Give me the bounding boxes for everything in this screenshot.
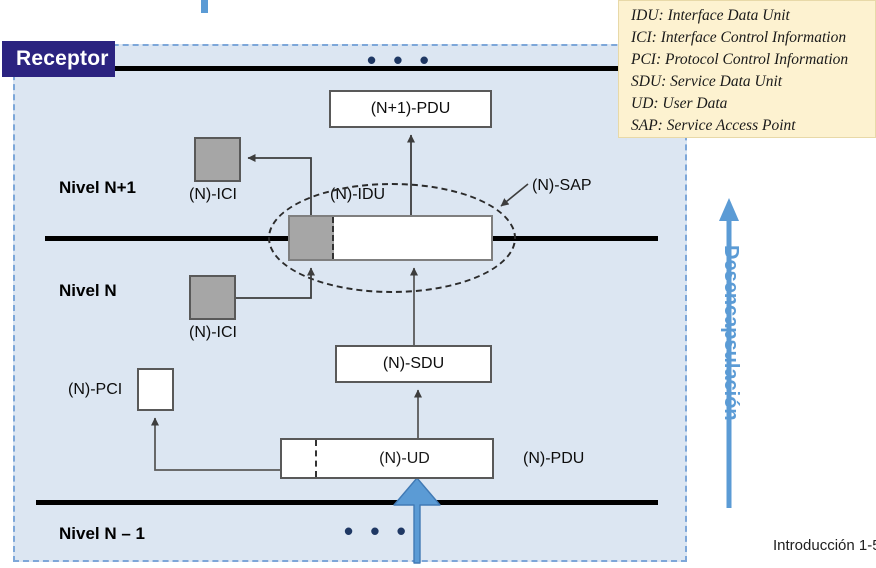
caption-pci: (N)-PCI bbox=[68, 381, 122, 399]
pdu-ud-segment: (N)-UD bbox=[317, 440, 492, 477]
legend-entry-idu: IDU: Interface Data Unit bbox=[631, 5, 875, 27]
caption-idu: (N)-IDU bbox=[330, 186, 385, 204]
legend-entry-ici: ICI: Interface Control Information bbox=[631, 27, 875, 49]
box-ici-upper bbox=[194, 137, 241, 182]
footer-note: Introducción 1-5 bbox=[773, 537, 876, 554]
legend-entry-ud: UD: User Data bbox=[631, 93, 875, 115]
top-blue-sliver bbox=[201, 0, 208, 13]
caption-ici-lower: (N)-ICI bbox=[189, 324, 237, 342]
level-label-n-minus-1: Nivel N – 1 bbox=[59, 524, 145, 544]
box-idu bbox=[288, 215, 493, 261]
legend-entry-pci: PCI: Protocol Control Information bbox=[631, 49, 875, 71]
pdu-pci-segment bbox=[282, 440, 317, 477]
idu-sdu-segment bbox=[334, 217, 491, 259]
layer-line-bottom bbox=[36, 500, 658, 505]
box-ici-lower bbox=[189, 275, 236, 320]
desencapsulacion-label: Desencapsulación bbox=[719, 245, 742, 421]
level-label-n-plus-1: Nivel N+1 bbox=[59, 178, 136, 198]
caption-pdu: (N)-PDU bbox=[523, 450, 584, 468]
level-label-n: Nivel N bbox=[59, 281, 117, 301]
legend-entry-sdu: SDU: Service Data Unit bbox=[631, 71, 875, 93]
box-sdu: (N)-SDU bbox=[335, 345, 492, 383]
ellipsis-top: • • • bbox=[367, 47, 434, 73]
legend-box: IDU: Interface Data Unit ICI: Interface … bbox=[618, 0, 876, 138]
ellipsis-bottom: • • • bbox=[344, 518, 411, 544]
box-pdu: (N)-UD bbox=[280, 438, 494, 479]
box-n-plus-1-pdu: (N+1)-PDU bbox=[329, 90, 492, 128]
caption-ici-upper: (N)-ICI bbox=[189, 186, 237, 204]
box-pci bbox=[137, 368, 174, 411]
idu-ici-segment bbox=[290, 217, 334, 259]
legend-entry-sap: SAP: Service Access Point bbox=[631, 115, 875, 137]
receptor-badge: Receptor bbox=[2, 41, 115, 77]
caption-sap: (N)-SAP bbox=[532, 177, 592, 195]
